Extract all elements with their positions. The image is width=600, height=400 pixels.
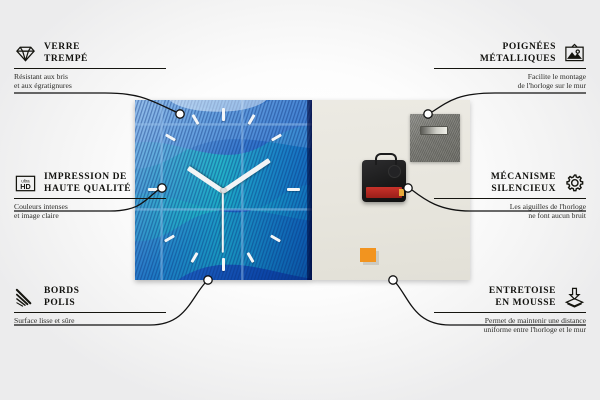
feature-bords-polis[interactable]: BORDS POLIS Surface lisse et sûre <box>14 286 166 325</box>
feature-title: IMPRESSION DE HAUTE QUALITÉ <box>44 172 131 195</box>
gear-icon <box>563 172 586 195</box>
feature-header: ultra HD IMPRESSION DE HAUTE QUALITÉ <box>14 172 166 195</box>
divider <box>434 68 586 69</box>
feature-header: MÉCANISME SILENCIEUX <box>434 172 586 195</box>
feature-subtitle: Couleurs intenses et image claire <box>14 202 166 221</box>
feature-verre-trempe[interactable]: VERRE TREMPÉ Résistant aux bris et aux é… <box>14 42 166 91</box>
feature-subtitle: Résistant aux bris et aux égratignures <box>14 72 166 91</box>
svg-text:HD: HD <box>20 182 31 191</box>
divider <box>434 198 586 199</box>
feature-poignees-metalliques[interactable]: POIGNÉES MÉTALLIQUES Facilite le montage… <box>434 42 586 91</box>
diamond-icon <box>14 42 37 65</box>
feature-header: BORDS POLIS <box>14 286 166 309</box>
feature-header: POIGNÉES MÉTALLIQUES <box>434 42 586 65</box>
feature-mecanisme-silencieux[interactable]: MÉCANISME SILENCIEUX Les aiguilles de l'… <box>434 172 586 221</box>
feature-subtitle: Les aiguilles de l'horloge ne font aucun… <box>434 202 586 221</box>
divider <box>14 198 166 199</box>
infographic-canvas: VERRE TREMPÉ Résistant aux bris et aux é… <box>0 0 600 400</box>
feature-title: VERRE TREMPÉ <box>44 42 88 65</box>
divider <box>14 68 166 69</box>
arrow-on-pad-icon <box>563 286 586 309</box>
feature-entretoise-en-mousse[interactable]: ENTRETOISE EN MOUSSE Permet de maintenir… <box>434 286 586 335</box>
feature-title: POIGNÉES MÉTALLIQUES <box>480 42 556 65</box>
feature-header: ENTRETOISE EN MOUSSE <box>434 286 586 309</box>
feature-subtitle: Permet de maintenir une distance uniform… <box>434 316 586 335</box>
feature-title: ENTRETOISE EN MOUSSE <box>489 286 556 309</box>
ultra-hd-icon: ultra HD <box>14 172 37 195</box>
divider <box>14 312 166 313</box>
feature-header: VERRE TREMPÉ <box>14 42 166 65</box>
polished-edge-icon <box>14 286 37 309</box>
feature-title: MÉCANISME SILENCIEUX <box>491 172 556 195</box>
feature-title: BORDS POLIS <box>44 286 79 309</box>
picture-frame-hook-icon <box>563 42 586 65</box>
feature-subtitle: Surface lisse et sûre <box>14 316 166 325</box>
divider <box>434 312 586 313</box>
feature-subtitle: Facilite le montage de l'horloge sur le … <box>434 72 586 91</box>
feature-impression-haute-qualite[interactable]: ultra HD IMPRESSION DE HAUTE QUALITÉ Cou… <box>14 172 166 221</box>
